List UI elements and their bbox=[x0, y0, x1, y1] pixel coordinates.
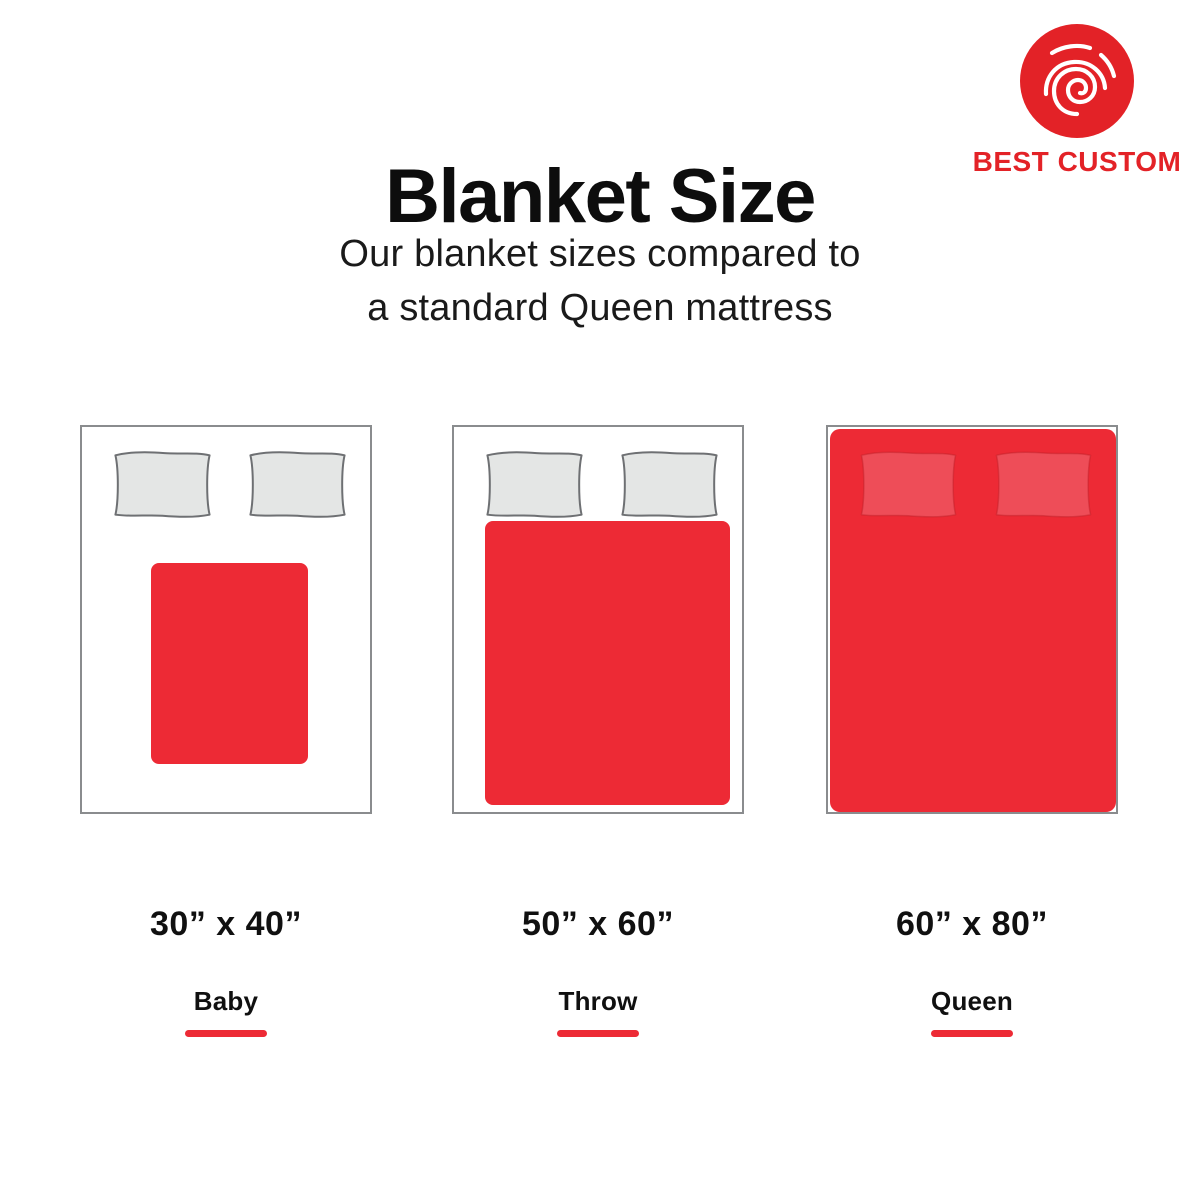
mattress-outline-throw bbox=[452, 425, 744, 814]
size-name-text: Queen bbox=[792, 986, 1152, 1017]
covered-pillow-queen-1 bbox=[855, 450, 962, 520]
blanket-baby bbox=[151, 563, 308, 764]
fingerprint-icon bbox=[1018, 22, 1136, 140]
pillow-icon bbox=[990, 450, 1097, 520]
pillow-icon bbox=[481, 450, 588, 520]
accent-underline bbox=[557, 1030, 639, 1037]
dimension-text: 50” x 60” bbox=[418, 905, 778, 944]
pillow-icon bbox=[244, 450, 351, 520]
page-title: Blanket Size bbox=[0, 159, 1200, 235]
pillow-icon bbox=[616, 450, 723, 520]
dimension-text: 30” x 40” bbox=[46, 905, 406, 944]
pillow-throw-2 bbox=[616, 450, 723, 520]
bed-diagram-baby bbox=[80, 425, 372, 814]
pillow-icon bbox=[855, 450, 962, 520]
infographic-canvas: BEST CUSTOM Blanket Size Our blanket siz… bbox=[0, 0, 1200, 1200]
pillow-throw-1 bbox=[481, 450, 588, 520]
mattress-outline-queen bbox=[826, 425, 1118, 814]
accent-underline bbox=[185, 1030, 267, 1037]
size-label-1: 30” x 40”Baby bbox=[46, 905, 406, 1037]
dimension-text: 60” x 80” bbox=[792, 905, 1152, 944]
blanket-throw bbox=[485, 521, 730, 805]
pillow-baby-1 bbox=[109, 450, 216, 520]
bed-diagram-throw bbox=[452, 425, 744, 814]
pillow-baby-2 bbox=[244, 450, 351, 520]
accent-underline bbox=[931, 1030, 1013, 1037]
size-label-3: 60” x 80”Queen bbox=[792, 905, 1152, 1037]
subtitle-line-1: Our blanket sizes compared to bbox=[0, 228, 1200, 282]
pillow-icon bbox=[109, 450, 216, 520]
covered-pillow-queen-2 bbox=[990, 450, 1097, 520]
size-name-text: Throw bbox=[418, 986, 778, 1017]
size-name-text: Baby bbox=[46, 986, 406, 1017]
page-subtitle: Our blanket sizes compared to a standard… bbox=[0, 228, 1200, 336]
bed-diagram-queen bbox=[826, 425, 1118, 814]
size-label-2: 50” x 60”Throw bbox=[418, 905, 778, 1037]
mattress-outline-baby bbox=[80, 425, 372, 814]
bed-comparison-row bbox=[0, 425, 1200, 825]
subtitle-line-2: a standard Queen mattress bbox=[0, 282, 1200, 336]
